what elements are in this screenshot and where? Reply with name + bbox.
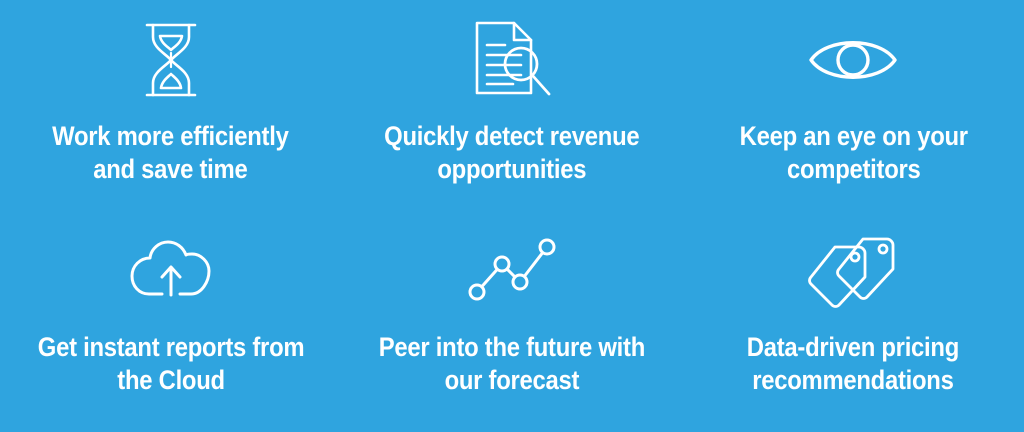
feature-label: Keep an eye on your competitors [739,120,967,186]
cloud-upload-icon [129,227,213,313]
price-tags-icon [807,227,899,313]
feature-card-pricing-recommendations: Data-driven pricing recommendations [683,215,1024,422]
hourglass-icon [133,14,209,106]
feature-label: Get instant reports from the Cloud [37,331,304,397]
eye-icon [807,14,899,106]
feature-card-keep-eye: Keep an eye on your competitors [683,8,1024,215]
features-banner: Work more efficiently and save time Quic… [0,0,1024,432]
line-chart-icon [467,227,557,313]
feature-card-cloud-reports: Get instant reports from the Cloud [0,215,341,422]
feature-label: Quickly detect revenue opportunities [384,120,639,186]
feature-card-detect-revenue: Quickly detect revenue opportunities [341,8,682,215]
feature-label: Peer into the future with our forecast [379,331,645,397]
document-magnifier-icon [469,14,555,106]
feature-label: Work more efficiently and save time [52,120,288,186]
feature-card-forecast: Peer into the future with our forecast [341,215,682,422]
feature-label: Data-driven pricing recommendations [747,331,959,397]
feature-card-work-efficiently: Work more efficiently and save time [0,8,341,215]
